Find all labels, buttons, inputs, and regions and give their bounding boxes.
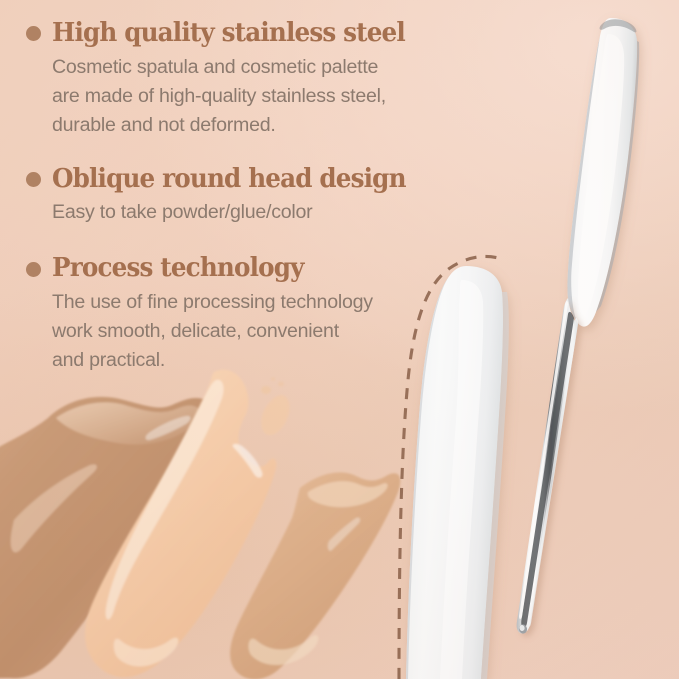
feature-body-line: and practical. (52, 346, 452, 375)
bullet-dot-icon (26, 26, 41, 41)
feature-body-line: durable and not deformed. (52, 111, 452, 140)
bullet-dot-icon (26, 262, 41, 277)
feature-title: Oblique round head design (52, 164, 406, 194)
feature-list: High quality stainless steel Cosmetic sp… (0, 0, 452, 379)
feature-body-line: Easy to take powder/glue/color (52, 198, 452, 227)
feature-heading-row: High quality stainless steel (0, 18, 452, 48)
feature-item-process-technology: Process technology The use of fine proce… (0, 253, 452, 375)
feature-heading-row: Process technology (0, 253, 452, 283)
feature-item-stainless-steel: High quality stainless steel Cosmetic sp… (0, 18, 452, 140)
feature-heading-row: Oblique round head design (0, 164, 452, 194)
feature-body-line: work smooth, delicate, convenient (52, 317, 452, 346)
feature-body-line: are made of high-quality stainless steel… (52, 82, 452, 111)
feature-body-line: The use of fine processing technology (52, 288, 452, 317)
feature-body: The use of fine processing technology wo… (0, 288, 452, 375)
feature-body: Easy to take powder/glue/color (0, 198, 452, 227)
feature-item-oblique-head: Oblique round head design Easy to take p… (0, 164, 452, 228)
bullet-dot-icon (26, 172, 41, 187)
feature-body-line: Cosmetic spatula and cosmetic palette (52, 53, 452, 82)
feature-body: Cosmetic spatula and cosmetic palette ar… (0, 53, 452, 140)
product-feature-graphic: High quality stainless steel Cosmetic sp… (0, 0, 679, 679)
feature-title: High quality stainless steel (52, 18, 405, 48)
feature-title: Process technology (52, 253, 304, 283)
